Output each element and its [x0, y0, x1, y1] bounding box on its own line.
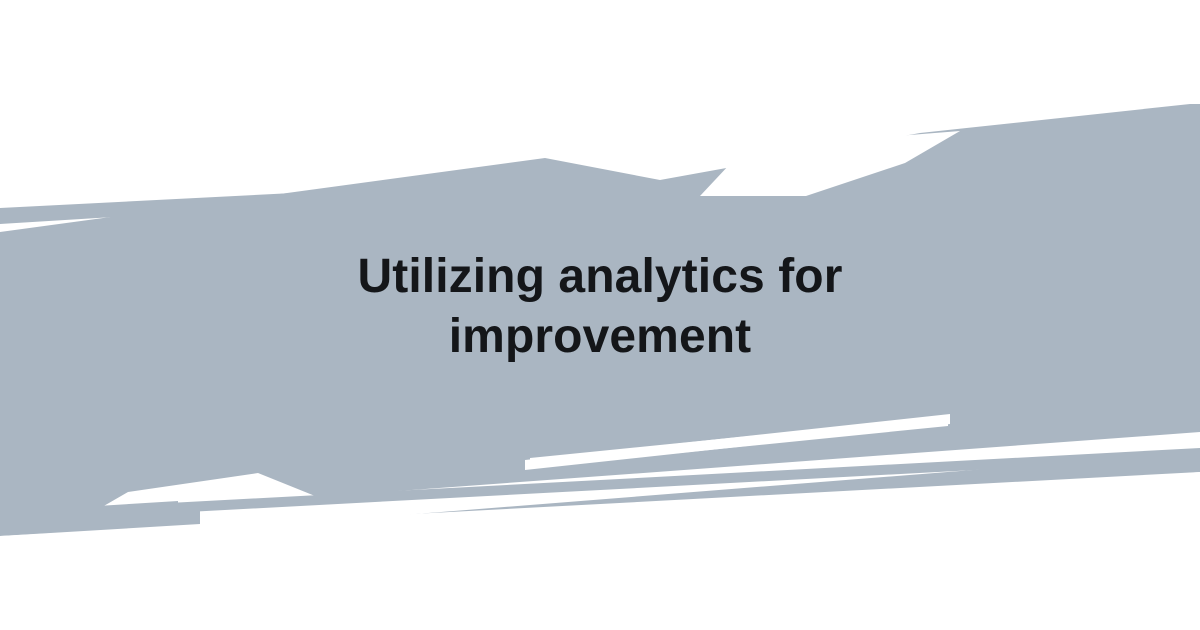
top-dash-1-icon — [696, 142, 710, 161]
decorative-background-art — [0, 0, 1200, 630]
banner-card: Utilizing analytics for improvement — [0, 0, 1200, 630]
top-dash-2-icon — [716, 141, 728, 160]
